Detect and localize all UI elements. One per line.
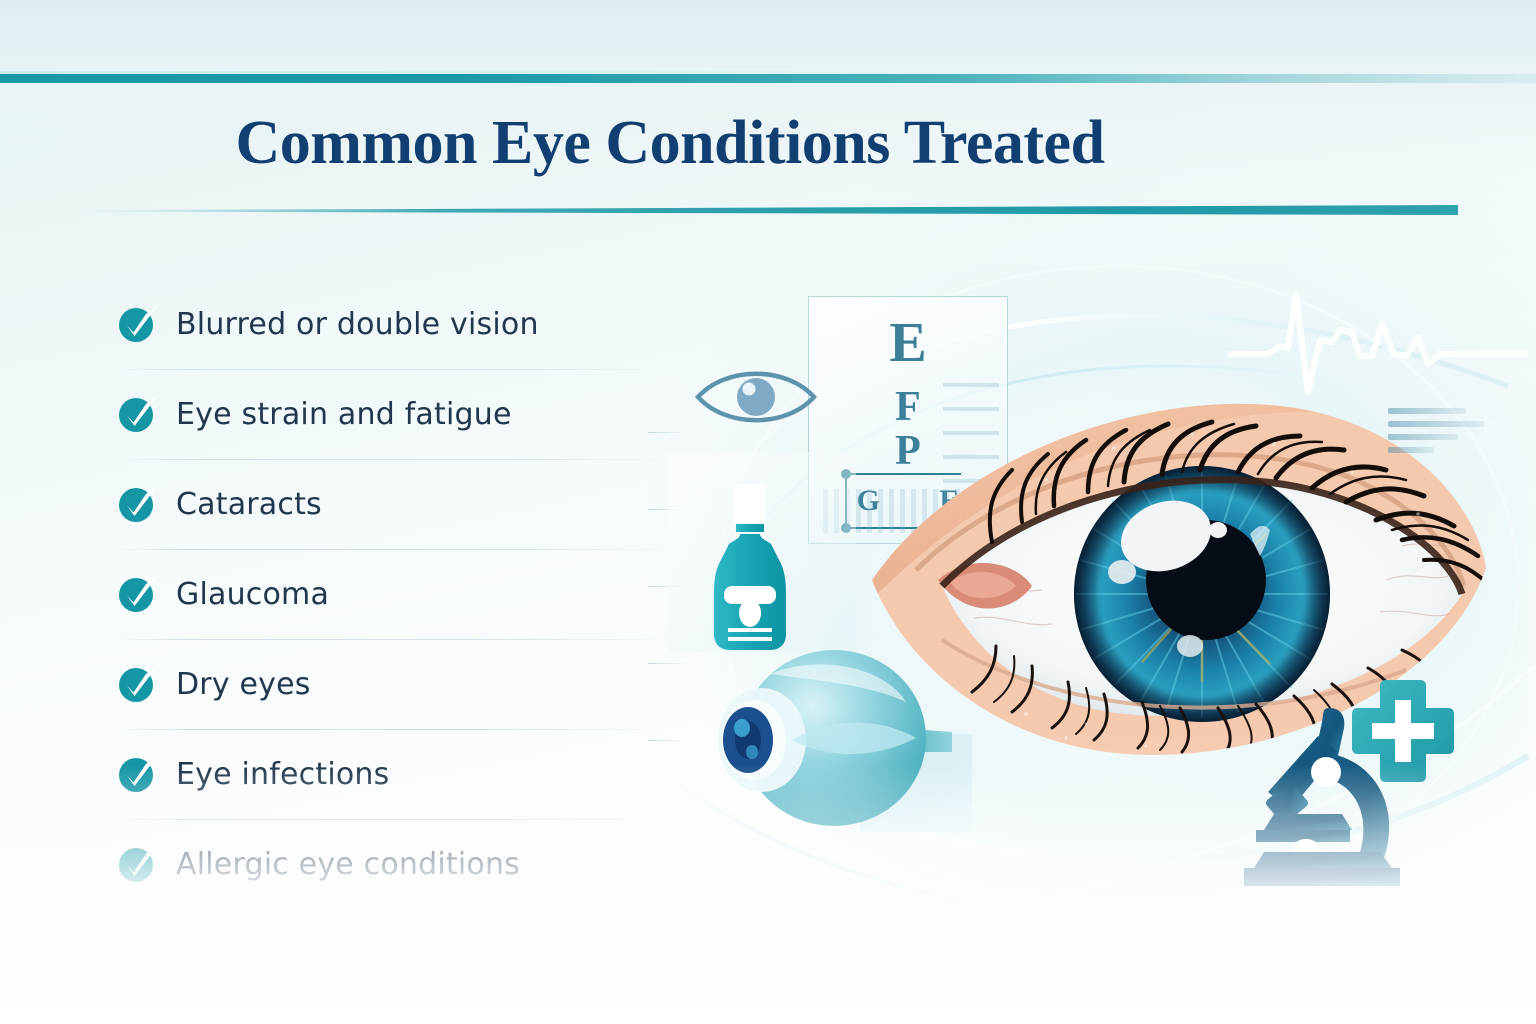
header-accent-band — [0, 74, 1536, 83]
conditions-checklist: Blurred or double vision Eye strain and … — [118, 279, 674, 909]
list-item[interactable]: Eye infections — [118, 729, 674, 819]
page-title: Common Eye Conditions Treated — [0, 108, 1340, 179]
list-item-label: Eye infections — [176, 757, 389, 792]
list-item-label: Blurred or double vision — [176, 307, 539, 342]
list-item-label: Glaucoma — [176, 577, 329, 612]
eye-drop-bottle-icon — [704, 482, 796, 652]
check-circle-icon — [118, 666, 154, 702]
list-item-label: Dry eyes — [176, 667, 311, 702]
eye-outline-icon — [692, 362, 820, 432]
check-circle-icon — [118, 756, 154, 792]
check-circle-icon — [118, 846, 154, 882]
list-item-label: Allergic eye conditions — [176, 847, 520, 882]
check-circle-icon — [118, 576, 154, 612]
list-item-label: Eye strain and fatigue — [176, 397, 512, 432]
list-item-label: Cataracts — [176, 487, 322, 522]
page-title-container: Common Eye Conditions Treated — [0, 108, 1340, 179]
medical-cross-icon — [1348, 676, 1458, 786]
list-item[interactable]: Cataracts — [118, 459, 674, 549]
list-item[interactable]: Glaucoma — [118, 549, 674, 639]
check-circle-icon — [118, 306, 154, 342]
list-item[interactable]: Eye strain and fatigue — [118, 369, 674, 459]
infographic-poster: Common Eye Conditions Treated Blurred or… — [0, 0, 1536, 1024]
list-item[interactable]: Allergic eye conditions — [118, 819, 674, 909]
check-circle-icon — [118, 396, 154, 432]
list-item[interactable]: Dry eyes — [118, 639, 674, 729]
title-divider — [82, 205, 1458, 215]
ecg-waveform-icon — [1228, 276, 1528, 406]
eye-artwork-panel: E F P G E — [648, 236, 1536, 960]
ecg-annotation-text — [1388, 408, 1508, 470]
check-circle-icon — [118, 486, 154, 522]
list-item[interactable]: Blurred or double vision — [118, 279, 674, 369]
